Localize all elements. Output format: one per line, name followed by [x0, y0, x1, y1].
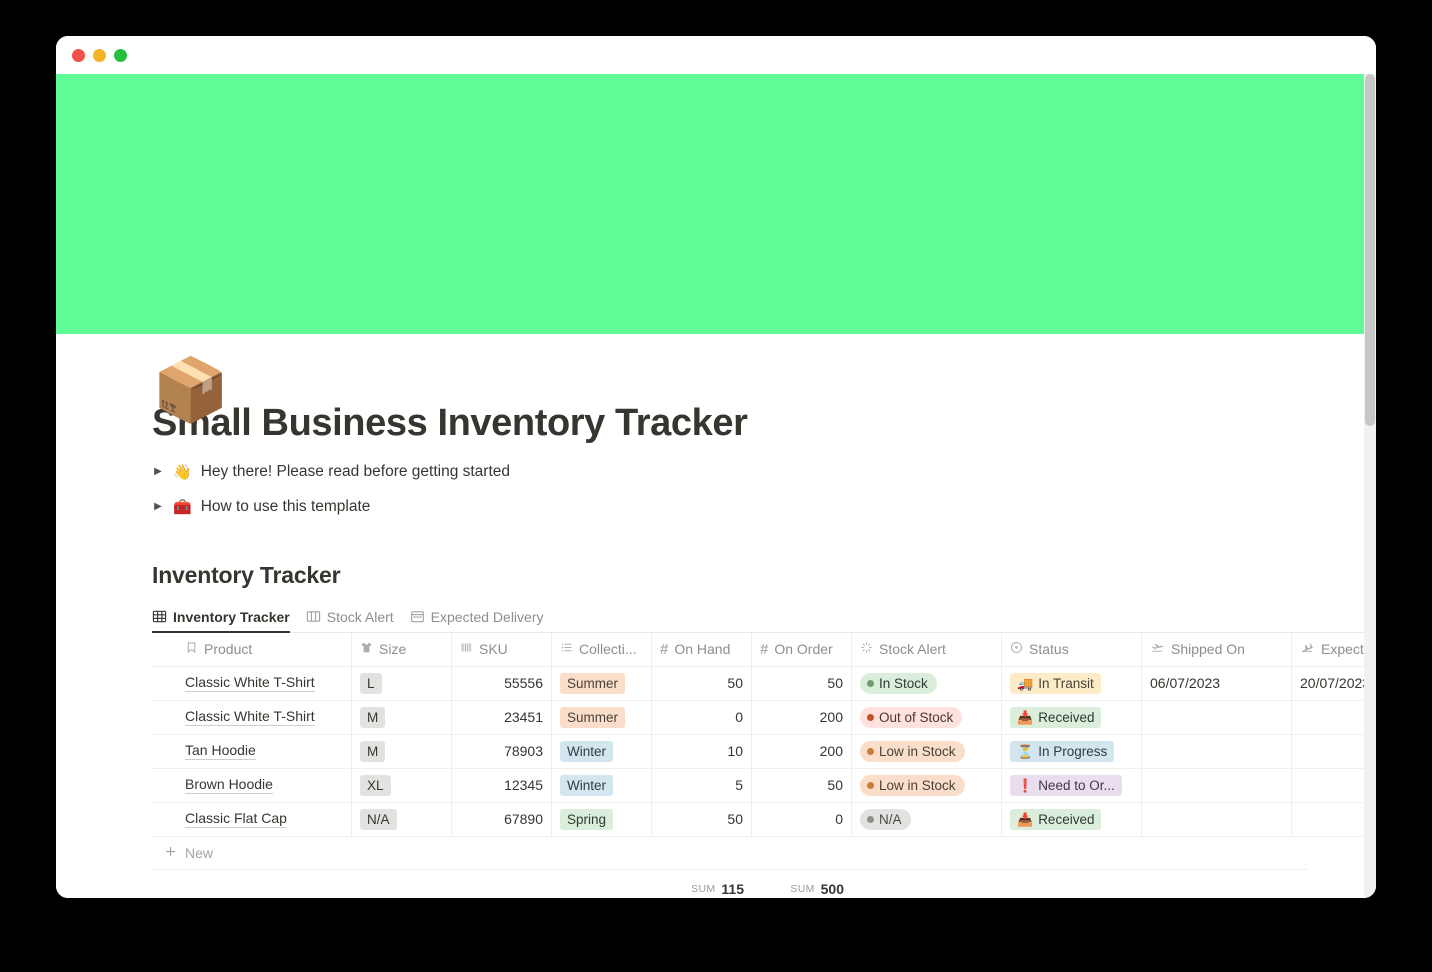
- column-header-size[interactable]: Size: [352, 633, 452, 666]
- board-icon: [306, 609, 321, 624]
- inbox-tray-emoji-icon: 📥: [1017, 810, 1033, 829]
- truck-emoji-icon: 🚚: [1017, 674, 1033, 693]
- footer-expected-cell[interactable]: [1292, 870, 1364, 898]
- cell-sku[interactable]: 55556: [452, 667, 552, 700]
- minimize-button[interactable]: [93, 49, 106, 62]
- stock-alert-label: Low in Stock: [879, 742, 956, 761]
- column-label: Status: [1029, 641, 1069, 657]
- vertical-scrollbar-thumb[interactable]: [1365, 74, 1375, 426]
- status-label: Received: [1038, 708, 1094, 727]
- column-header-status[interactable]: Status: [1002, 633, 1142, 666]
- number-icon: #: [760, 641, 768, 658]
- product-link[interactable]: Classic White T-Shirt: [185, 674, 315, 692]
- cell-sku[interactable]: 12345: [452, 769, 552, 802]
- status-dot-icon: [867, 714, 874, 721]
- column-label: On Order: [774, 641, 832, 657]
- table-body: Classic White T-Shirt L 55556 Summer 50 …: [152, 667, 1364, 837]
- cell-stock-alert[interactable]: N/A: [852, 803, 1002, 836]
- column-label: Product: [204, 641, 252, 657]
- cell-size[interactable]: XL: [352, 769, 452, 802]
- database-title[interactable]: Inventory Tracker: [152, 562, 1364, 589]
- exclamation-emoji-icon: ❗: [1017, 776, 1033, 795]
- status-icon: [1010, 641, 1023, 657]
- status-pill: 📥 Received: [1010, 707, 1101, 728]
- stock-alert-pill: N/A: [860, 809, 911, 830]
- collection-pill: Winter: [560, 775, 613, 796]
- stock-alert-pill: Out of Stock: [860, 707, 962, 728]
- toggle-label: How to use this template: [201, 498, 371, 516]
- maximize-button[interactable]: [114, 49, 127, 62]
- column-header-collection[interactable]: Collecti...: [552, 633, 652, 666]
- page-icon-emoji[interactable]: 📦: [152, 360, 229, 422]
- cell-product[interactable]: Classic Flat Cap: [152, 803, 352, 836]
- cell-sku[interactable]: 67890: [452, 803, 552, 836]
- cell-on-hand[interactable]: 5: [652, 769, 752, 802]
- formula-icon: [860, 641, 873, 657]
- footer-product-cell: [152, 870, 352, 898]
- cell-status[interactable]: ⏳ In Progress: [1002, 735, 1142, 768]
- toggle-block-greeting[interactable]: ▶ 👋 Hey there! Please read before gettin…: [152, 463, 1364, 481]
- column-label: SKU: [479, 641, 508, 657]
- cell-collection[interactable]: Summer: [552, 701, 652, 734]
- column-label: Stock Alert: [879, 641, 946, 657]
- table-row[interactable]: Brown Hoodie XL 12345 Winter 5 50: [152, 769, 1364, 803]
- title-icon: [185, 641, 198, 657]
- add-new-row-label: New: [185, 845, 213, 861]
- tab-label: Stock Alert: [327, 609, 394, 625]
- cell-collection[interactable]: Winter: [552, 735, 652, 768]
- table-icon: [152, 609, 167, 624]
- stock-alert-pill: Low in Stock: [860, 741, 965, 762]
- select-icon: [560, 641, 573, 657]
- cell-expected-delivery[interactable]: [1292, 735, 1364, 768]
- wave-emoji-icon: 👋: [173, 463, 192, 481]
- collection-pill: Summer: [560, 673, 625, 694]
- plane-depart-icon: [1150, 640, 1165, 658]
- size-pill: XL: [360, 775, 391, 796]
- hourglass-emoji-icon: ⏳: [1017, 742, 1033, 761]
- stock-alert-label: In Stock: [879, 674, 928, 693]
- cell-expected-delivery[interactable]: [1292, 803, 1364, 836]
- cell-status[interactable]: ❗ Need to Or...: [1002, 769, 1142, 802]
- tab-expected-delivery[interactable]: Expected Delivery: [410, 609, 544, 632]
- status-dot-icon: [867, 680, 874, 687]
- status-pill: 📥 Received: [1010, 809, 1101, 830]
- sum-value: 500: [821, 881, 844, 897]
- cell-on-order[interactable]: 200: [752, 735, 852, 768]
- cell-on-order[interactable]: 200: [752, 701, 852, 734]
- traffic-lights: [72, 49, 127, 62]
- collection-pill: Summer: [560, 707, 625, 728]
- cell-shipped-on[interactable]: [1142, 769, 1292, 802]
- cell-status[interactable]: 📥 Received: [1002, 701, 1142, 734]
- cell-size[interactable]: M: [352, 735, 452, 768]
- size-pill: M: [360, 707, 385, 728]
- footer-collection-cell: [552, 870, 652, 898]
- tab-label: Inventory Tracker: [173, 609, 290, 625]
- cell-product[interactable]: Classic White T-Shirt: [152, 667, 352, 700]
- cell-shipped-on[interactable]: [1142, 803, 1292, 836]
- chevron-right-icon[interactable]: ▶: [152, 466, 164, 477]
- table-row[interactable]: Classic White T-Shirt L 55556 Summer 50 …: [152, 667, 1364, 701]
- cell-collection[interactable]: Summer: [552, 667, 652, 700]
- toggle-block-howto[interactable]: ▶ 🧰 How to use this template: [152, 498, 1364, 516]
- screen: 📦 Small Business Inventory Tracker ▶ 👋 H…: [0, 0, 1432, 972]
- cell-on-hand[interactable]: 50: [652, 667, 752, 700]
- page-cover-image[interactable]: [56, 74, 1364, 334]
- window-titlebar: [56, 36, 1376, 74]
- column-header-product[interactable]: Product: [152, 633, 352, 666]
- table-header-row: Product Size: [152, 633, 1364, 667]
- column-header-on-hand[interactable]: # On Hand: [652, 633, 752, 666]
- cell-expected-delivery[interactable]: [1292, 769, 1364, 802]
- footer-on-order-sum[interactable]: SUM 500: [752, 870, 852, 898]
- status-label: Need to Or...: [1038, 776, 1115, 795]
- sum-value: 115: [721, 881, 744, 897]
- cell-stock-alert[interactable]: Out of Stock: [852, 701, 1002, 734]
- plus-icon: [164, 845, 177, 861]
- footer-status-cell[interactable]: [1002, 870, 1142, 898]
- cell-on-hand[interactable]: 10: [652, 735, 752, 768]
- column-header-expected-delivery[interactable]: Expecte: [1292, 633, 1364, 666]
- cell-expected-delivery[interactable]: 20/07/2023: [1292, 667, 1364, 700]
- column-header-on-order[interactable]: # On Order: [752, 633, 852, 666]
- size-pill: L: [360, 673, 382, 694]
- cell-stock-alert[interactable]: In Stock: [852, 667, 1002, 700]
- product-link[interactable]: Brown Hoodie: [185, 776, 273, 794]
- product-link[interactable]: Classic White T-Shirt: [185, 708, 315, 726]
- collection-pill: Winter: [560, 741, 613, 762]
- size-pill: M: [360, 741, 385, 762]
- plane-arrive-icon: [1300, 640, 1315, 658]
- inbox-tray-emoji-icon: 📥: [1017, 708, 1033, 727]
- cell-on-order[interactable]: 50: [752, 667, 852, 700]
- footer-shipped-cell[interactable]: [1142, 870, 1292, 898]
- sum-label: SUM: [691, 883, 715, 895]
- database-view-tabs: Inventory Tracker Stock Alert: [152, 603, 1364, 633]
- cell-status[interactable]: 🚚 In Transit: [1002, 667, 1142, 700]
- size-pill: N/A: [360, 809, 397, 830]
- tab-inventory-tracker[interactable]: Inventory Tracker: [152, 609, 290, 632]
- status-label: Received: [1038, 810, 1094, 829]
- barcode-icon: [460, 641, 473, 657]
- number-icon: #: [660, 641, 668, 658]
- cell-on-hand[interactable]: 50: [652, 803, 752, 836]
- status-label: In Progress: [1038, 742, 1107, 761]
- cell-product[interactable]: Classic White T-Shirt: [152, 701, 352, 734]
- footer-sku-cell: [452, 870, 552, 898]
- calendar-icon: [410, 609, 425, 624]
- tab-stock-alert[interactable]: Stock Alert: [306, 609, 394, 632]
- cell-shipped-on[interactable]: 06/07/2023: [1142, 667, 1292, 700]
- cell-on-order[interactable]: 0: [752, 803, 852, 836]
- footer-size-cell: [352, 870, 452, 898]
- tab-label: Expected Delivery: [431, 609, 544, 625]
- collection-pill: Spring: [560, 809, 613, 830]
- column-label: Collecti...: [579, 641, 637, 657]
- stock-alert-label: Low in Stock: [879, 776, 956, 795]
- footer-stock-alert-cell[interactable]: [852, 870, 1002, 898]
- cell-on-hand[interactable]: 0: [652, 701, 752, 734]
- cell-product[interactable]: Tan Hoodie: [152, 735, 352, 768]
- inventory-table: Product Size: [152, 633, 1364, 898]
- add-new-row-button[interactable]: New: [152, 837, 1307, 870]
- status-pill: 🚚 In Transit: [1010, 673, 1101, 694]
- column-label: On Hand: [674, 641, 730, 657]
- cell-size[interactable]: N/A: [352, 803, 452, 836]
- page-scroll-area: 📦 Small Business Inventory Tracker ▶ 👋 H…: [56, 74, 1364, 898]
- column-label: Shipped On: [1171, 641, 1245, 657]
- column-header-stock-alert[interactable]: Stock Alert: [852, 633, 1002, 666]
- page-content: 📦 Small Business Inventory Tracker ▶ 👋 H…: [56, 402, 1364, 898]
- cell-size[interactable]: L: [352, 667, 452, 700]
- cell-shipped-on[interactable]: [1142, 701, 1292, 734]
- stock-alert-pill: In Stock: [860, 673, 937, 694]
- cell-collection[interactable]: Winter: [552, 769, 652, 802]
- cell-product[interactable]: Brown Hoodie: [152, 769, 352, 802]
- stock-alert-label: N/A: [879, 810, 902, 829]
- toggle-label: Hey there! Please read before getting st…: [201, 463, 510, 481]
- table-row[interactable]: Classic White T-Shirt M 23451 Summer 0 2…: [152, 701, 1364, 735]
- status-pill: ❗ Need to Or...: [1010, 775, 1122, 796]
- cell-stock-alert[interactable]: Low in Stock: [852, 769, 1002, 802]
- status-label: In Transit: [1038, 674, 1094, 693]
- status-dot-icon: [867, 748, 874, 755]
- column-label: Expecte: [1321, 641, 1364, 657]
- cell-collection[interactable]: Spring: [552, 803, 652, 836]
- footer-on-hand-sum[interactable]: SUM 115: [652, 870, 752, 898]
- status-dot-icon: [867, 782, 874, 789]
- status-pill: ⏳ In Progress: [1010, 741, 1114, 762]
- table-footer-summary: SUM 115 SUM 500: [152, 870, 1364, 898]
- stock-alert-label: Out of Stock: [879, 708, 953, 727]
- product-link[interactable]: Classic Flat Cap: [185, 810, 287, 828]
- page-title: Small Business Inventory Tracker: [152, 402, 1364, 446]
- close-button[interactable]: [72, 49, 85, 62]
- stock-alert-pill: Low in Stock: [860, 775, 965, 796]
- cell-shipped-on[interactable]: [1142, 735, 1292, 768]
- cell-sku[interactable]: 78903: [452, 735, 552, 768]
- product-link[interactable]: Tan Hoodie: [185, 742, 256, 760]
- chevron-right-icon[interactable]: ▶: [152, 501, 164, 512]
- status-dot-icon: [867, 816, 874, 823]
- cell-expected-delivery[interactable]: [1292, 701, 1364, 734]
- table-header: Product Size: [152, 633, 1364, 667]
- column-header-shipped-on[interactable]: Shipped On: [1142, 633, 1292, 666]
- sum-label: SUM: [790, 883, 814, 895]
- table-row[interactable]: Tan Hoodie M 78903 Winter 10 200: [152, 735, 1364, 769]
- column-label: Size: [379, 641, 406, 657]
- toolbox-emoji-icon: 🧰: [173, 498, 192, 516]
- cell-sku[interactable]: 23451: [452, 701, 552, 734]
- table-row[interactable]: Classic Flat Cap N/A 67890 Spring 50 0: [152, 803, 1364, 837]
- cell-stock-alert[interactable]: Low in Stock: [852, 735, 1002, 768]
- tshirt-icon: [360, 641, 373, 657]
- column-header-sku[interactable]: SKU: [452, 633, 552, 666]
- cell-status[interactable]: 📥 Received: [1002, 803, 1142, 836]
- app-window: 📦 Small Business Inventory Tracker ▶ 👋 H…: [56, 36, 1376, 898]
- cell-size[interactable]: M: [352, 701, 452, 734]
- cell-on-order[interactable]: 50: [752, 769, 852, 802]
